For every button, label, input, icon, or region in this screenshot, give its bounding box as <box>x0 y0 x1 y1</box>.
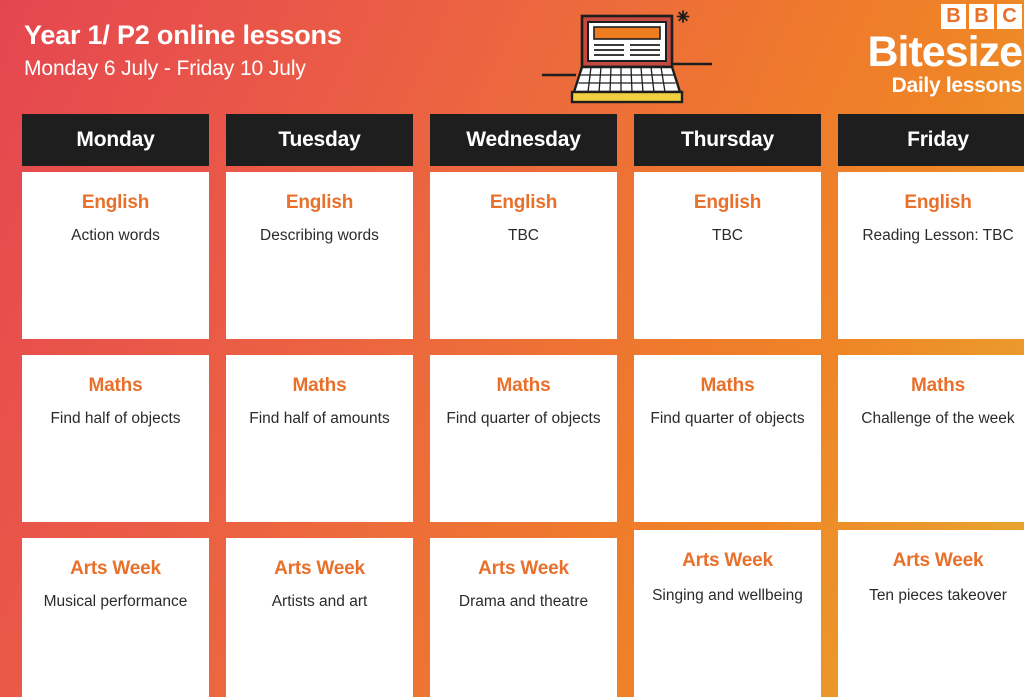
lesson-topic: Artists and art <box>236 592 403 613</box>
lesson-card[interactable]: Maths Find quarter of objects <box>430 355 617 522</box>
lesson-subject: Maths <box>236 375 403 398</box>
lesson-cards-friday: English Reading Lesson: TBC Maths Challe… <box>838 172 1024 697</box>
lesson-topic: Reading Lesson: TBC <box>848 226 1024 247</box>
date-range: Monday 6 July - Friday 10 July <box>24 55 342 82</box>
lesson-subject: Maths <box>32 375 199 398</box>
lesson-card[interactable]: Maths Find half of objects <box>22 355 209 522</box>
lesson-topic: Drama and theatre <box>440 592 607 613</box>
lesson-subject: English <box>32 192 199 215</box>
lesson-topic: Musical performance <box>32 592 199 613</box>
lesson-card[interactable]: English TBC <box>634 172 821 339</box>
bbc-bitesize-logo: B B C Bitesize Daily lessons <box>824 4 1024 97</box>
lesson-subject: Maths <box>644 375 811 398</box>
day-column-monday: Monday English Action words Maths Find h… <box>22 114 209 697</box>
bbc-blocks: B B C <box>824 4 1024 29</box>
lesson-subject: English <box>236 192 403 215</box>
lesson-card[interactable]: English TBC <box>430 172 617 339</box>
timetable-poster: Year 1/ P2 online lessons Monday 6 July … <box>0 0 1024 697</box>
laptop-illustration <box>520 2 740 106</box>
lesson-topic: Ten pieces takeover <box>848 586 1024 607</box>
day-header-tuesday: Tuesday <box>226 114 413 166</box>
sparkle-icon <box>678 11 689 22</box>
lesson-card[interactable]: Arts Week Artists and art <box>226 538 413 697</box>
brand-name: Bitesize <box>824 31 1024 74</box>
timetable-grid: Monday English Action words Maths Find h… <box>22 114 1024 697</box>
lesson-card[interactable]: Maths Find half of amounts <box>226 355 413 522</box>
lesson-card[interactable]: English Action words <box>22 172 209 339</box>
lesson-topic: Find quarter of objects <box>644 409 811 430</box>
lesson-subject: Arts Week <box>440 558 607 581</box>
day-header-friday: Friday <box>838 114 1024 166</box>
brand-tagline: Daily lessons <box>824 75 1024 97</box>
lesson-subject: Arts Week <box>848 550 1024 573</box>
lesson-cards-thursday: English TBC Maths Find quarter of object… <box>634 172 821 697</box>
day-column-tuesday: Tuesday English Describing words Maths F… <box>226 114 413 697</box>
lesson-card[interactable]: English Reading Lesson: TBC <box>838 172 1024 339</box>
day-column-thursday: Thursday English TBC Maths Find quarter … <box>634 114 821 697</box>
lesson-topic: Find quarter of objects <box>440 409 607 430</box>
lesson-card[interactable]: Arts Week Singing and wellbeing <box>634 530 821 697</box>
lesson-subject: English <box>848 192 1024 215</box>
day-header-wednesday: Wednesday <box>430 114 617 166</box>
day-column-wednesday: Wednesday English TBC Maths Find quarter… <box>430 114 617 697</box>
lesson-topic: Describing words <box>236 226 403 247</box>
lesson-topic: Singing and wellbeing <box>644 586 811 607</box>
lesson-topic: Challenge of the week <box>848 409 1024 430</box>
lesson-card[interactable]: Maths Find quarter of objects <box>634 355 821 522</box>
page-title: Year 1/ P2 online lessons <box>24 20 342 52</box>
lesson-topic: TBC <box>440 226 607 247</box>
lesson-subject: Maths <box>848 375 1024 398</box>
bbc-letter-c: C <box>997 4 1022 29</box>
lesson-card[interactable]: English Describing words <box>226 172 413 339</box>
lesson-cards-tuesday: English Describing words Maths Find half… <box>226 172 413 697</box>
title-block: Year 1/ P2 online lessons Monday 6 July … <box>24 20 342 82</box>
day-column-friday: Friday English Reading Lesson: TBC Maths… <box>838 114 1024 697</box>
lesson-cards-monday: English Action words Maths Find half of … <box>22 172 209 697</box>
lesson-subject: Maths <box>440 375 607 398</box>
lesson-cards-wednesday: English TBC Maths Find quarter of object… <box>430 172 617 697</box>
lesson-card[interactable]: Maths Challenge of the week <box>838 355 1024 522</box>
lesson-subject: Arts Week <box>236 558 403 581</box>
lesson-subject: English <box>644 192 811 215</box>
lesson-topic: TBC <box>644 226 811 247</box>
lesson-subject: Arts Week <box>644 550 811 573</box>
lesson-topic: Find half of amounts <box>236 409 403 430</box>
lesson-topic: Find half of objects <box>32 409 199 430</box>
day-header-thursday: Thursday <box>634 114 821 166</box>
lesson-card[interactable]: Arts Week Drama and theatre <box>430 538 617 697</box>
poster-header: Year 1/ P2 online lessons Monday 6 July … <box>0 0 1024 112</box>
day-header-monday: Monday <box>22 114 209 166</box>
lesson-subject: English <box>440 192 607 215</box>
lesson-subject: Arts Week <box>32 558 199 581</box>
bbc-letter-b1: B <box>941 4 966 29</box>
lesson-topic: Action words <box>32 226 199 247</box>
lesson-card[interactable]: Arts Week Musical performance <box>22 538 209 697</box>
bbc-letter-b2: B <box>969 4 994 29</box>
lesson-card[interactable]: Arts Week Ten pieces takeover <box>838 530 1024 697</box>
